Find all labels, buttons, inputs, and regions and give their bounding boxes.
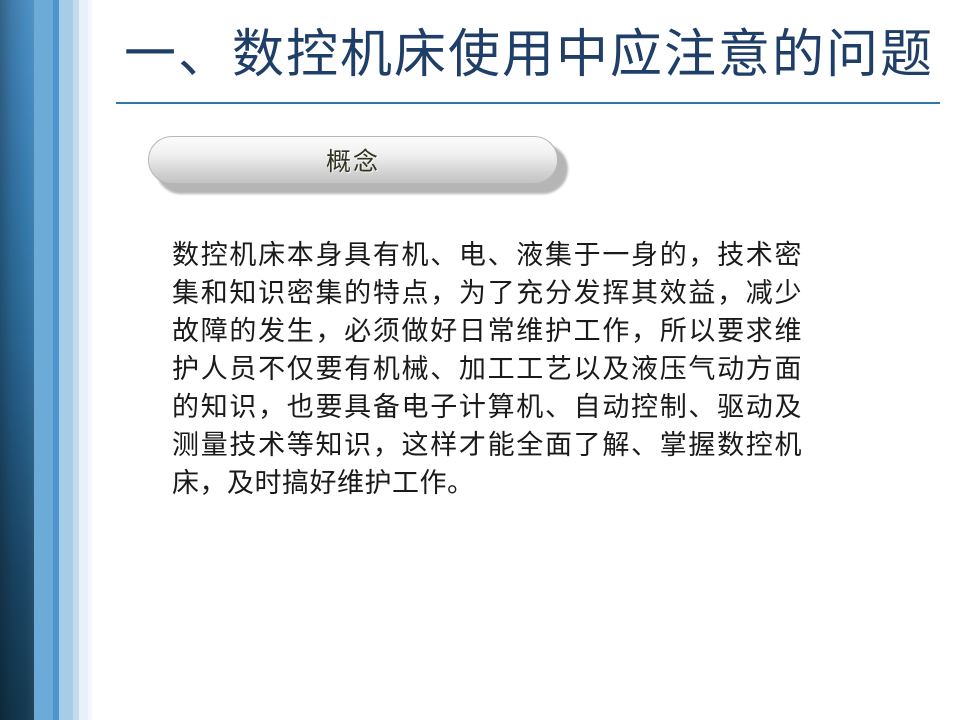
title-divider-rule xyxy=(116,102,940,104)
stripe-dark-band-shading xyxy=(0,0,34,720)
left-decorative-stripe-band xyxy=(0,0,92,720)
stripe-lightest-blue-band xyxy=(79,0,88,720)
pill-button-label: 概念 xyxy=(326,142,380,178)
body-paragraph: 数控机床本身具有机、电、液集于一身的，技术密集和知识密集的特点，为了充分发挥其效… xyxy=(172,236,802,502)
stripe-edge-band xyxy=(88,0,92,720)
presentation-slide: 一、数控机床使用中应注意的问题 概念 数控机床本身具有机、电、液集于一身的，技术… xyxy=(0,0,960,720)
concept-pill-button[interactable]: 概念 xyxy=(148,136,564,192)
pill-surface[interactable]: 概念 xyxy=(148,136,558,184)
slide-title: 一、数控机床使用中应注意的问题 xyxy=(110,22,948,90)
stripe-light-blue-band xyxy=(59,0,73,720)
stripe-medium-blue-band xyxy=(34,0,53,720)
